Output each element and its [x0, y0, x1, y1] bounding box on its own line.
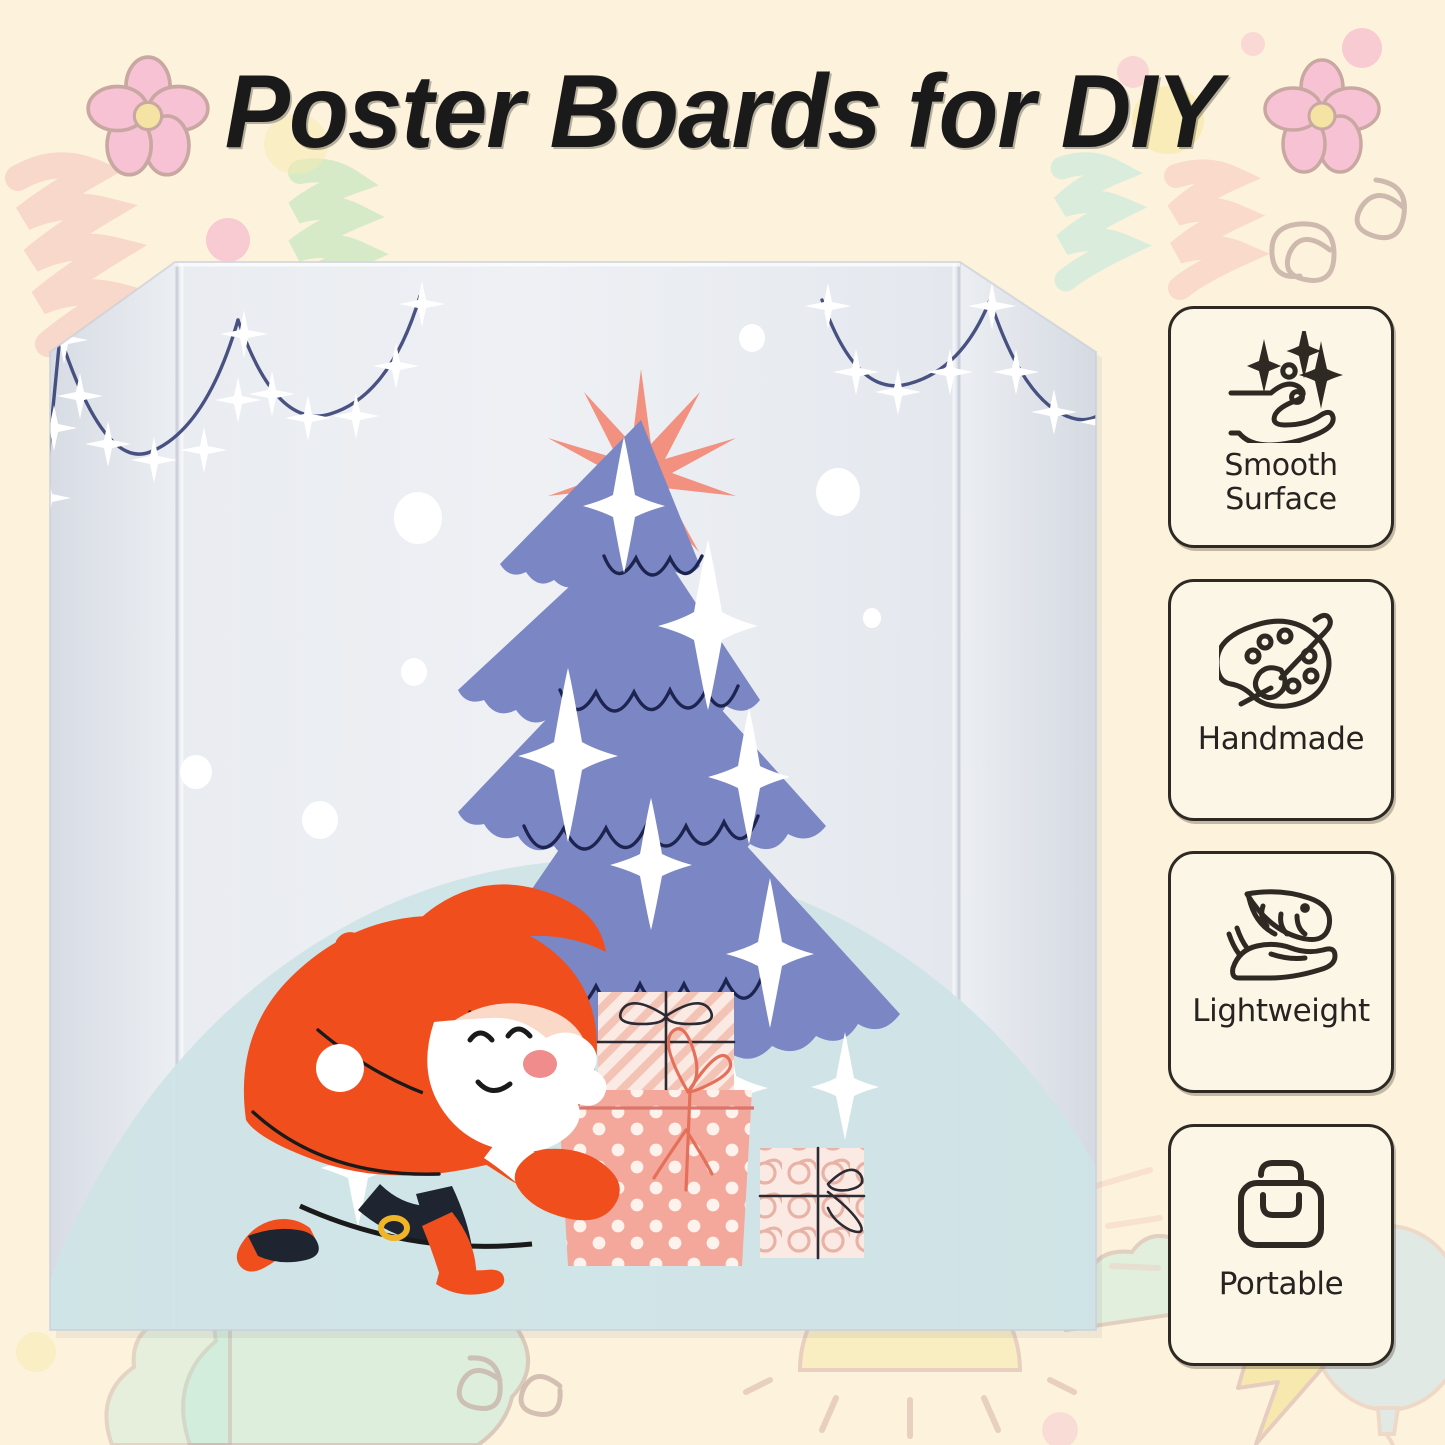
gift-box-swirl — [760, 1148, 864, 1258]
feature-list: Smooth Surface Handma — [1168, 306, 1394, 1366]
paint-palette-icon — [1219, 604, 1343, 716]
hand-sparkle-icon — [1219, 331, 1343, 443]
product-infographic: Poster Boards for DIY — [0, 0, 1445, 1445]
briefcase-icon — [1219, 1149, 1343, 1261]
feature-smooth-surface[interactable]: Smooth Surface — [1168, 306, 1394, 548]
feature-portable[interactable]: Portable — [1168, 1124, 1394, 1366]
santa-nose — [523, 1050, 557, 1078]
feather-hand-icon — [1219, 876, 1343, 988]
feature-lightweight[interactable]: Lightweight — [1168, 851, 1394, 1093]
feature-label: Handmade — [1190, 722, 1372, 757]
feature-label: Smooth Surface — [1216, 449, 1345, 516]
santa-hat-pompom — [316, 1044, 364, 1092]
feature-handmade[interactable]: Handmade — [1168, 579, 1394, 821]
page-title: Poster Boards for DIY — [0, 52, 1445, 172]
page-title-text: Poster Boards for DIY — [224, 60, 1220, 164]
feature-label: Lightweight — [1184, 994, 1377, 1029]
feature-label: Portable — [1211, 1267, 1352, 1302]
